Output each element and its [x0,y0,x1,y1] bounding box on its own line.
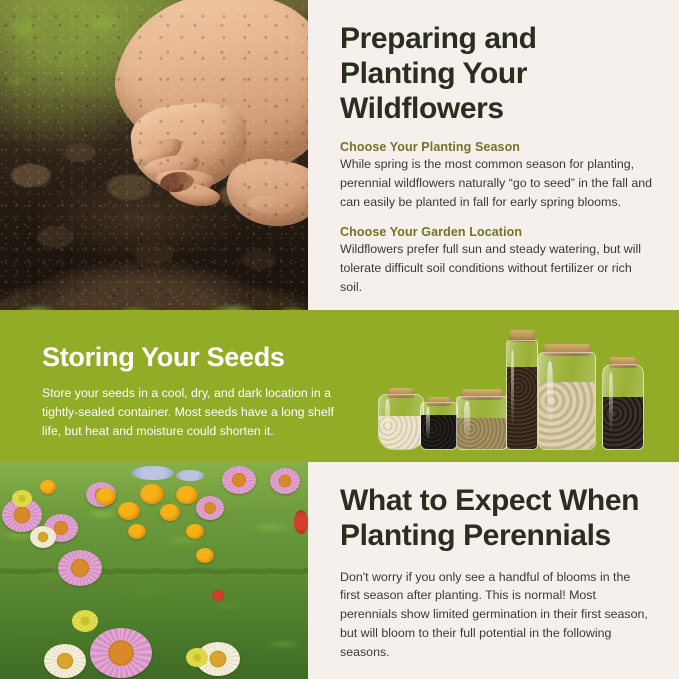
jar-body-2 [420,402,458,450]
coneflower-3 [58,550,102,586]
jar-large-pale-seeds [538,342,596,450]
coneflower-5 [196,496,224,520]
lavender-flower-1 [132,466,174,480]
top-text-column: Preparing and Planting Your Wildflowers … [308,0,679,310]
orange-cluster-5 [176,486,198,504]
jar-tall-tube-dark-seeds [506,332,538,450]
jar-shine-6 [609,372,613,431]
green-body: Store your seeds in a cool, dry, and dar… [42,384,354,441]
jar-white-beans [378,382,424,450]
section-what-to-expect: What to Expect When Planting Perennials … [0,462,679,679]
top-subheading-2: Choose Your Garden Location [340,225,653,239]
top-subheading-1: Choose Your Planting Season [340,140,653,154]
section-storing-seeds: Storing Your Seeds Store your seeds in a… [0,310,679,462]
jar-tan-seeds [456,384,508,450]
orange-cluster-4 [160,504,180,521]
bottom-text-column: What to Expect When Planting Perennials … [308,462,679,679]
yellow-daisy-1 [72,610,98,632]
jar-black-seeds [420,392,458,450]
orange-cluster-1 [96,488,116,505]
infographic-page: Preparing and Planting Your Wildflowers … [0,0,679,679]
red-flower-1 [294,510,308,534]
jar-body-4 [506,340,538,450]
jar-body-1 [378,394,424,450]
jar-sunflower-seeds [602,356,644,450]
lavender-flower-2 [176,470,204,481]
top-heading: Preparing and Planting Your Wildflowers [340,22,653,126]
orange-cluster-3 [140,484,164,504]
top-body-1: While spring is the most common season f… [340,155,653,212]
jar-shine-1 [385,399,390,437]
soil-texture [0,0,308,310]
orange-cluster-7 [196,548,214,563]
orange-cluster-6 [186,524,204,539]
bottom-body: Don't worry if you only see a handful of… [340,568,653,662]
grass-foreground [0,294,308,310]
jar-shine-5 [547,361,553,428]
jar-body-5 [538,352,596,450]
orange-cluster-8 [128,524,146,539]
coneflower-7 [270,468,300,494]
jar-shine-2 [426,407,430,439]
yellow-daisy-3 [186,648,208,667]
green-text-column: Storing Your Seeds Store your seeds in a… [42,342,354,441]
orange-cluster-2 [118,502,140,520]
red-flower-2 [212,590,224,601]
photo-seed-jars [372,320,672,460]
white-daisy-3 [30,526,56,548]
jar-body-3 [456,396,508,450]
section-preparing-planting: Preparing and Planting Your Wildflowers … [0,0,679,310]
yellow-daisy-2 [12,490,32,507]
coneflower-6 [222,466,256,494]
white-daisy-1 [44,644,86,678]
jar-body-6 [602,364,644,450]
jar-shine-3 [464,401,470,437]
photo-hands-planting-seeds [0,0,308,310]
photo-wildflower-meadow [0,462,308,679]
bottom-heading: What to Expect When Planting Perennials [340,484,653,554]
orange-cluster-9 [40,480,56,494]
coneflower-8 [90,628,152,678]
top-block-2: Choose Your Garden Location Wildflowers … [340,225,653,297]
top-body-2: Wildflowers prefer full sun and steady w… [340,240,653,297]
top-block-1: Choose Your Planting Season While spring… [340,140,653,212]
green-heading: Storing Your Seeds [42,342,354,373]
